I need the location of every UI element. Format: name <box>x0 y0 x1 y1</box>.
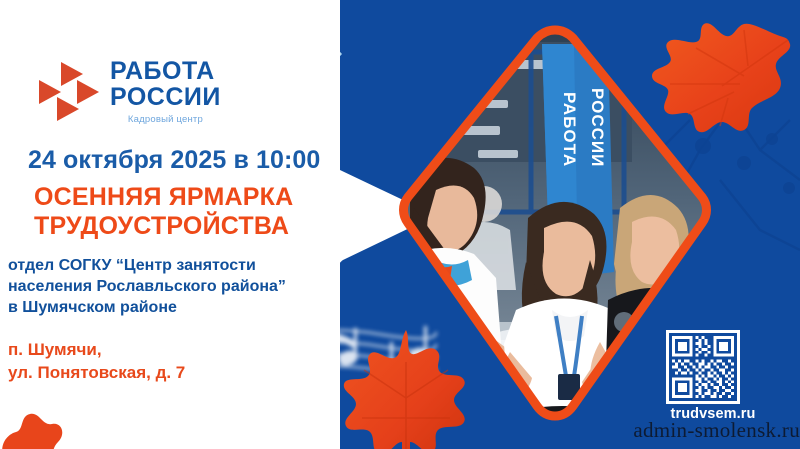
admin-smolensk-url[interactable]: admin-smolensk.ru <box>560 418 800 443</box>
four-triangles-pinwheel-icon <box>38 60 100 122</box>
organization-line-3: в Шумячском районе <box>8 297 358 318</box>
logo-line-1: РАБОТА <box>110 58 221 84</box>
rabota-rossii-logo: РАБОТА РОССИИ Кадровый центр <box>38 58 221 125</box>
headline-line-2: ТРУДОУСТРОЙСТВА <box>34 212 364 241</box>
qr-code-modules <box>672 336 734 398</box>
event-address: п. Шумячи, ул. Понятовская, д. 7 <box>8 338 328 384</box>
organization-line-1: отдел СОГКУ “Центр занятости <box>8 255 358 276</box>
logo-line-2: РОССИИ <box>110 84 221 110</box>
poster-banner: РАБОТА РОССИИ <box>0 0 800 449</box>
svg-text:РАБОТА: РАБОТА <box>560 92 579 167</box>
svg-text:РОССИИ: РОССИИ <box>588 88 607 167</box>
event-date: 24 октября 2025 в 10:00 <box>28 146 320 175</box>
event-headline: ОСЕННЯЯ ЯРМАРКА ТРУДОУСТРОЙСТВА <box>34 183 364 241</box>
qr-code[interactable] <box>666 330 740 404</box>
maple-leaf-icon <box>336 326 476 449</box>
logo-text: РАБОТА РОССИИ Кадровый центр <box>110 58 221 125</box>
headline-line-1: ОСЕННЯЯ ЯРМАРКА <box>34 183 364 212</box>
address-line-1: п. Шумячи, <box>8 338 328 361</box>
maple-leaf-icon <box>648 14 800 154</box>
address-line-2: ул. Понятовская, д. 7 <box>8 361 328 384</box>
organization-name: отдел СОГКУ “Центр занятости населения Р… <box>8 255 358 318</box>
logo-subtitle: Кадровый центр <box>110 115 221 125</box>
maple-leaf-icon <box>0 400 66 449</box>
organization-line-2: населения Рославльского района” <box>8 276 358 297</box>
